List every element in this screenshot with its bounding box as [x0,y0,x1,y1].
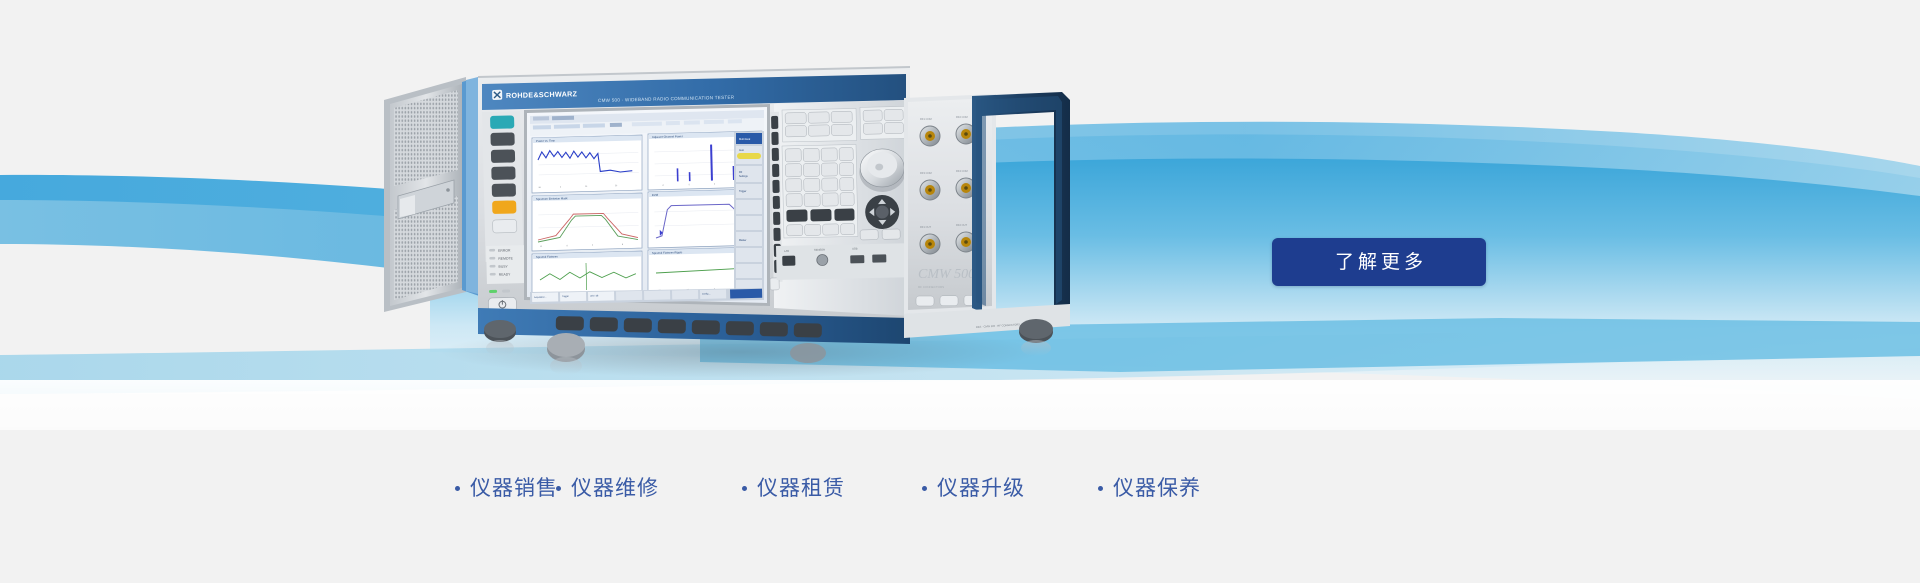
svg-text:-10: -10 [538,187,541,189]
svg-text:Trigger: Trigger [739,190,747,193]
svg-text:RF1 OUT: RF1 OUT [920,225,932,229]
cmw500-instrument-image: ROHDE&SCHWARZ CMW 500 · WIDEBAND RADIO C… [370,60,1110,390]
svg-text:RF CONNECTORS: RF CONNECTORS [918,285,944,289]
preset-key [490,115,514,129]
service-item-maintenance[interactable]: 仪器保养 [1098,478,1201,499]
service-item-rental[interactable]: 仪器租赁 [742,478,845,499]
svg-text:Auto: Auto [739,149,745,152]
svg-text:Multi Eval: Multi Eval [739,137,751,141]
rotary-knob [859,148,906,192]
service-label: 仪器维修 [571,478,659,499]
svg-text:20: 20 [615,185,617,187]
svg-text:BUSY: BUSY [498,265,508,269]
svg-text:-2: -2 [662,185,664,187]
svg-text:10: 10 [585,186,587,188]
bullet-dot-icon [455,486,460,491]
bullet-dot-icon [1098,486,1103,491]
svg-text:LAN: LAN [784,249,789,253]
learn-more-label: 了解更多 [1331,253,1427,272]
help-key [492,200,516,214]
svg-text:Config ...: Config ... [702,293,711,295]
svg-text:RF2 OUT: RF2 OUT [956,223,968,227]
bullet-dot-icon [922,486,927,491]
standby-led [502,289,510,292]
svg-text:Marker: Marker [739,239,747,242]
service-list: 仪器销售 仪器维修 仪器租赁 仪器升级 仪器保养 [455,468,1485,508]
rohde-schwarz-logo [492,90,502,100]
screen-side-keys: Multi Eval Auto RF Settings Trigger Mark… [734,131,764,291]
module-model-label: CMW 500 [918,267,975,282]
svg-text:Unit / dB: Unit / dB [590,294,599,297]
svg-text:RF1 COM: RF1 COM [920,117,932,121]
service-label: 仪器租赁 [757,478,845,499]
svg-text:0: 0 [560,186,561,188]
svg-text:RF: RF [739,171,743,174]
sys-key [493,219,517,233]
svg-text:USB: USB [852,246,858,250]
brand-text: ROHDE&SCHWARZ [506,89,578,100]
svg-text:READY: READY [499,272,512,276]
panel-power-vs-time: Power vs. Time -1001020 [532,135,642,193]
sensor-port [817,254,828,265]
bullet-dot-icon [742,486,747,491]
svg-text:Power vs. Time: Power vs. Time [536,139,556,143]
service-label: 仪器升级 [937,478,1025,499]
svg-text:SENSOR: SENSOR [814,248,825,252]
print-key [492,183,516,197]
save-key [490,132,514,146]
panel-spectrum-emission-mask: Spectrum Emission Mask -8-228 [532,193,642,251]
status-led-group: ERROR REMOTE BUSY READY [486,245,527,284]
power-led [489,290,497,293]
service-item-sales[interactable]: 仪器销售 [455,478,558,499]
svg-text:RF3 COM: RF3 COM [920,171,932,175]
service-label: 仪器销售 [470,478,558,499]
banner-stage: ROHDE&SCHWARZ CMW 500 · WIDEBAND RADIO C… [0,0,1920,583]
svg-text:ERROR: ERROR [498,248,511,252]
service-item-upgrade[interactable]: 仪器升级 [922,478,1025,499]
lan-port [782,256,795,266]
svg-text:Spectral Flatness Ripple: Spectral Flatness Ripple [652,250,683,255]
numeric-keypad [782,144,858,238]
svg-text:Trigger: Trigger [562,295,569,298]
svg-text:Settings: Settings [739,175,748,178]
front-connector-strip: LANSENSORUSB [776,243,909,280]
svg-text:REMOTE: REMOTE [498,256,513,260]
learn-more-button[interactable]: 了解更多 [1272,238,1486,286]
instrument-display: Power vs. Time -1001020 Adjacent Channel… [524,104,770,306]
svg-text:-1: -1 [688,184,690,186]
svg-text:2: 2 [592,245,593,247]
bullet-dot-icon [556,486,561,491]
svg-text:Spectrum Emission Mask: Spectrum Emission Mask [536,196,568,201]
function-key-block [782,106,907,142]
service-item-repair[interactable]: 仪器维修 [556,478,659,499]
device-keypad-region: LANSENSORUSB [770,100,910,316]
svg-text:Spectral Flatness: Spectral Flatness [536,254,558,259]
svg-text:8: 8 [622,244,623,246]
svg-text:EVM: EVM [652,193,659,197]
svg-text:0: 0 [714,184,715,186]
setup-key [491,166,515,180]
svg-text:-2: -2 [566,245,568,247]
svg-text:Adjacent Channel Power: Adjacent Channel Power [652,134,683,139]
svg-text:RF4 COM: RF4 COM [956,169,968,173]
panel-spectral-flatness: Spectral Flatness -28-14014 [532,251,642,297]
svg-text:Acquisition ..: Acquisition .. [534,296,547,299]
svg-text:-8: -8 [540,246,542,248]
service-label: 仪器保养 [1113,478,1201,499]
front-key-column: ERROR REMOTE BUSY READY [482,111,527,312]
saverecall-key [491,149,515,163]
svg-text:RF2 COM: RF2 COM [956,115,968,119]
device-side-panel [384,77,466,312]
usb-port [850,255,864,263]
